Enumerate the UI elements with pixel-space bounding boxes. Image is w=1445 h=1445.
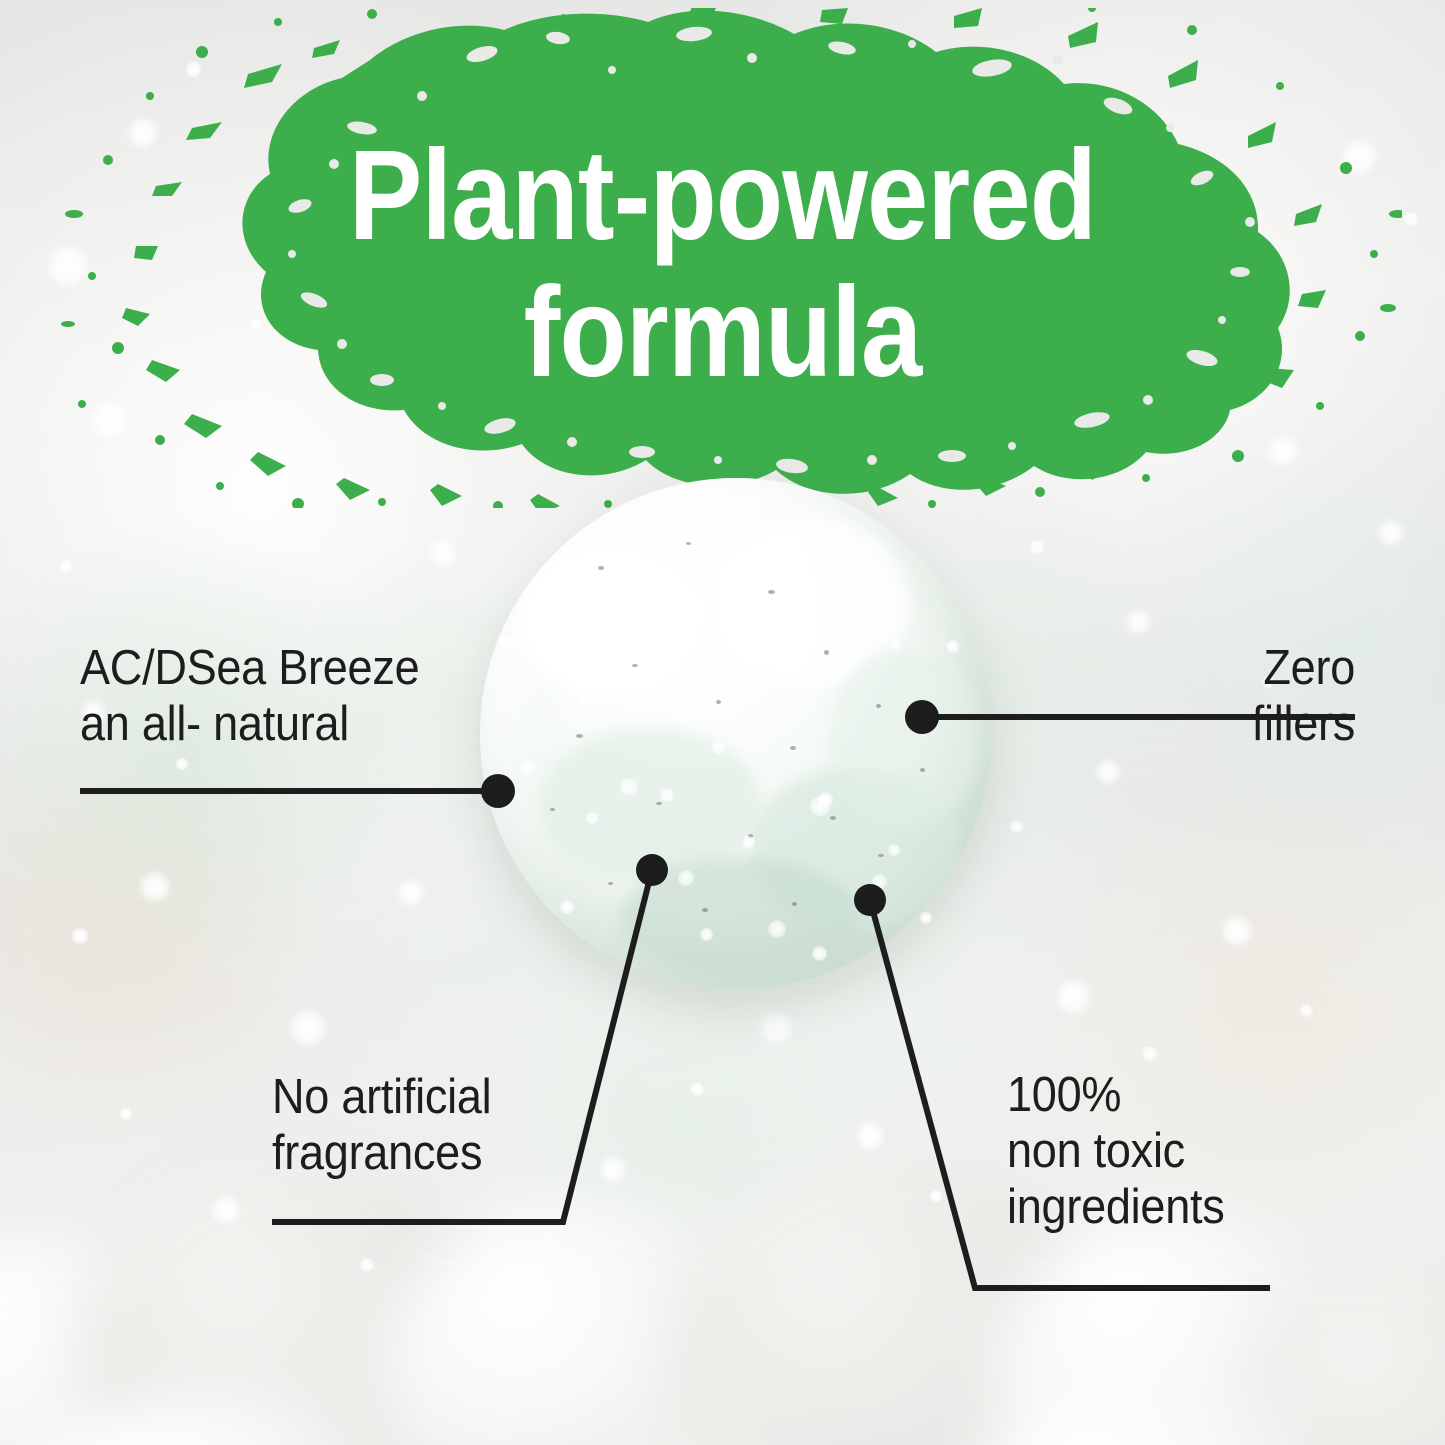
- infographic-canvas: Plant-powered formula: [0, 0, 1445, 1445]
- product-image: [480, 478, 992, 990]
- callout-label-zero-fillers: Zero fillers: [1252, 641, 1355, 753]
- background-product-pile: [0, 1005, 1445, 1445]
- callout-label-no-artificial-fragrances: No artificial fragrances: [272, 1070, 491, 1182]
- callout-label-sea-breeze: AC/DSea Breeze an all- natural: [80, 641, 419, 753]
- callout-label-non-toxic-ingredients: 100% non toxic ingredients: [1007, 1068, 1225, 1236]
- green-paint-splatter: [52, 8, 1402, 508]
- product-texture: [480, 478, 992, 990]
